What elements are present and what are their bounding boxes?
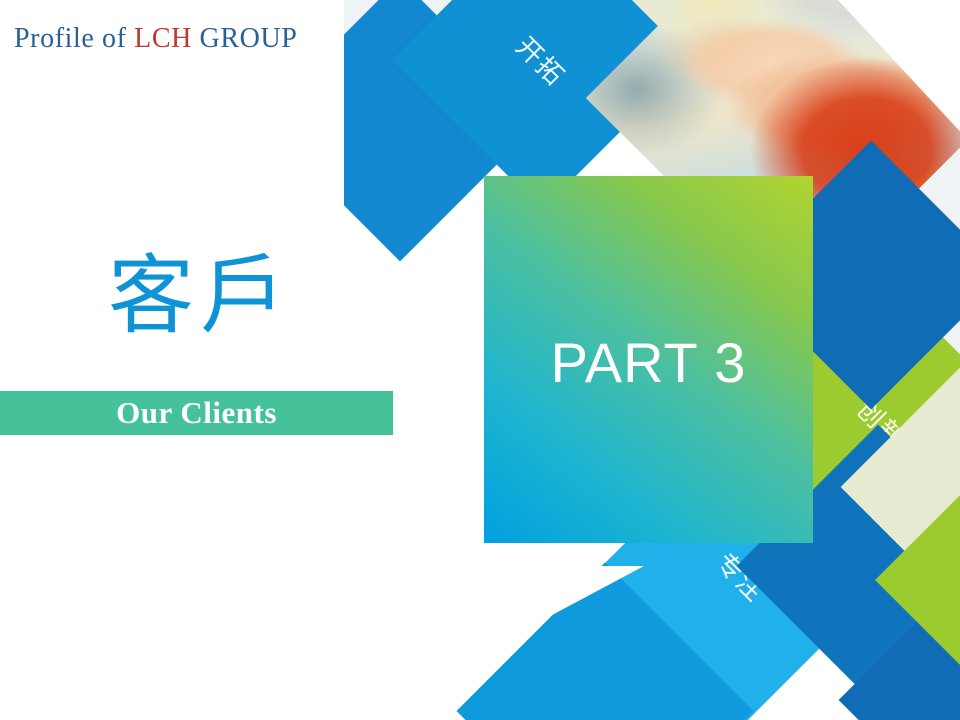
mosaic-left-mask xyxy=(0,0,344,720)
brand-prefix: Profile of xyxy=(14,23,134,54)
clients-banner-label: Our Clients xyxy=(116,395,277,431)
brand-suffix: GROUP xyxy=(192,23,298,54)
page-title-chinese: 客戶 xyxy=(0,253,400,339)
clients-banner: Our Clients xyxy=(0,391,393,435)
part-label: PART 3 xyxy=(551,330,747,395)
slide-canvas: 开拓 创新 专注 xyxy=(0,0,960,720)
brand-mark: LCH xyxy=(134,23,192,54)
brand-header: Profile of LCH GROUP xyxy=(14,23,297,55)
part-panel: PART 3 xyxy=(484,176,813,543)
diamond-mosaic: 开拓 创新 专注 xyxy=(0,0,960,720)
